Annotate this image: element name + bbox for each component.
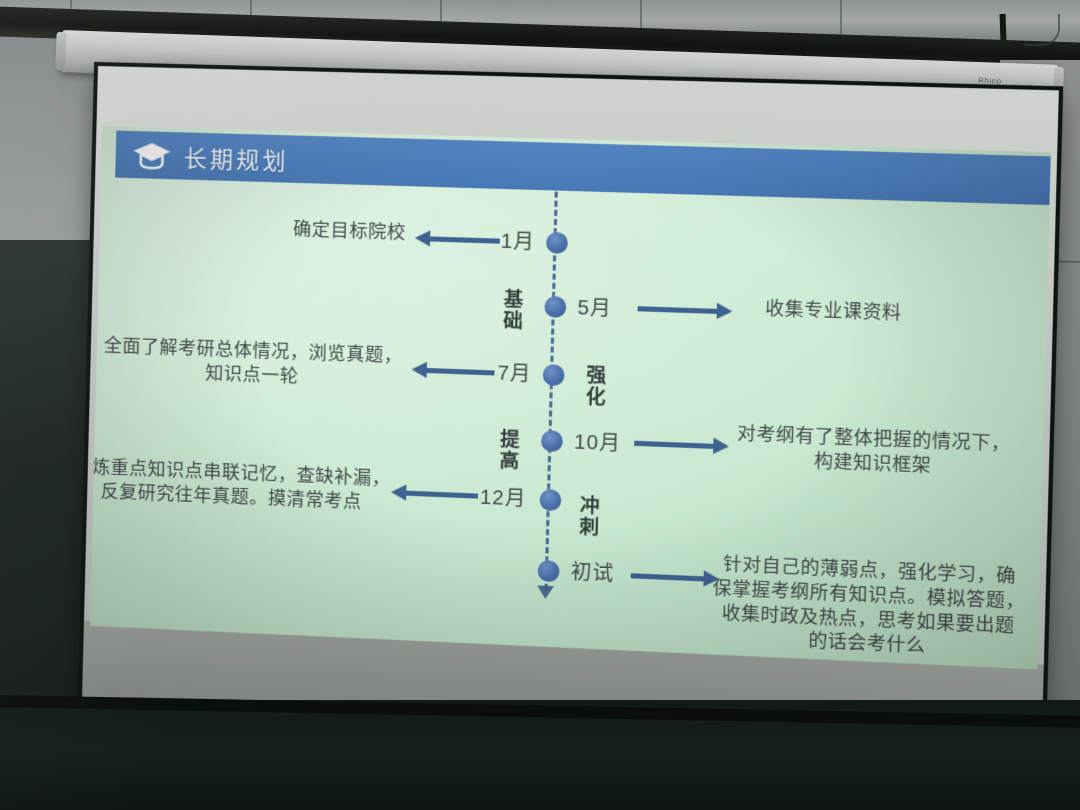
note-exam: 针对自己的薄弱点，强化学习，确 保掌握考纲所有知识点。模拟答题， 收集时政及热点… — [700, 552, 1038, 664]
month-label-may: 5月 — [577, 291, 612, 322]
note-dec: 提炼重点知识点串联记忆，查缺补漏， 反复研究往年真题。摸清常考点 — [90, 455, 399, 516]
month-label-oct: 10月 — [574, 425, 622, 456]
month-label-dec: 12月 — [480, 480, 527, 511]
arrow-left-dec — [404, 491, 478, 499]
timeline-node-4[interactable] — [541, 430, 563, 452]
phase-label-sprint: 冲刺 — [577, 496, 604, 540]
slide-title: 长期规划 — [183, 139, 289, 176]
phase-label-foundation: 基础 — [501, 289, 528, 333]
note-may: 收集专业课资料 — [723, 296, 945, 328]
note-jul: 全面了解考研总体情况，浏览真题， 知识点一轮 — [90, 334, 420, 394]
timeline-arrow-down-icon — [537, 585, 554, 599]
note-oct: 对考纲有了整体把握的情况下， 构建知识框架 — [715, 421, 1033, 482]
phase-label-improve: 提高 — [497, 429, 523, 473]
note-jan-text: 确定目标院校 — [293, 219, 406, 243]
projection-screen: 长期规划 1月 5月 7月 10月 12月 初试 — [81, 66, 1059, 789]
month-label-exam: 初试 — [570, 555, 614, 586]
note-jan: 确定目标院校 — [260, 217, 438, 247]
arrow-right-oct — [634, 441, 715, 449]
classroom-scene: Rhino 长期规划 — [0, 0, 1080, 810]
arrow-right-exam — [631, 573, 706, 581]
month-label-jul: 7月 — [497, 356, 532, 387]
presentation-slide: 长期规划 1月 5月 7月 10月 12月 初试 — [90, 126, 1051, 669]
note-may-text: 收集专业课资料 — [765, 298, 902, 323]
timeline-node-5[interactable] — [539, 489, 561, 511]
timeline-node-6[interactable] — [537, 560, 559, 582]
timeline-node-1[interactable] — [546, 232, 568, 254]
month-label-jan: 1月 — [501, 224, 536, 255]
screen-wrapper: 长期规划 1月 5月 7月 10月 12月 初试 — [0, 0, 1080, 810]
graduation-cap-icon — [131, 139, 172, 170]
arrow-left-jul — [425, 368, 495, 376]
slide-banner: 长期规划 — [115, 131, 1051, 206]
phase-label-intensive: 强化 — [583, 366, 610, 410]
timeline-node-2[interactable] — [544, 296, 566, 318]
arrow-right-may — [638, 306, 719, 314]
arrow-left-jan — [428, 236, 500, 243]
timeline-node-3[interactable] — [543, 364, 565, 386]
